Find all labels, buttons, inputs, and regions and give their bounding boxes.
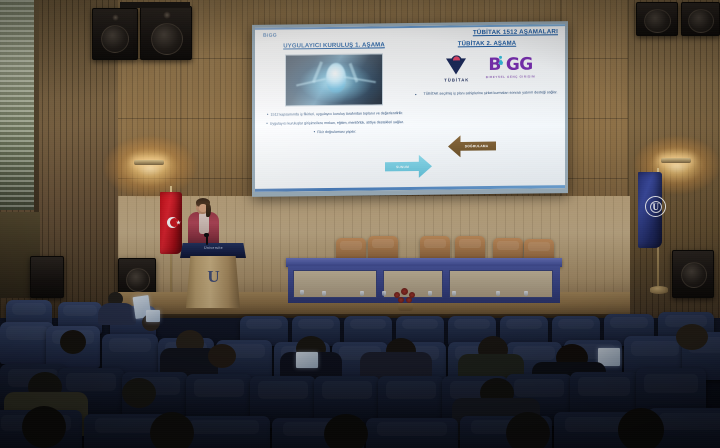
list-item: TÜBİTAK seçilmiş iş planı sahiplerine şi… <box>413 90 561 98</box>
audience-member <box>324 414 368 448</box>
left-bullet-list: 1512 kapsamında iş fikirleri, uygulayıcı… <box>261 110 407 137</box>
water-glass <box>382 291 386 296</box>
turkish-flag <box>160 192 182 254</box>
window-frame <box>34 0 39 215</box>
tubitak-mark-icon <box>446 54 467 75</box>
wall-speaker-right-a <box>636 2 678 36</box>
water-glass <box>524 291 528 296</box>
university-flag: U <box>638 172 662 248</box>
auditorium-photo: BiGG TÜBİTAK 1512 AŞAMALARI UYGULAYICI K… <box>0 0 720 448</box>
microphone-head <box>204 233 209 237</box>
verification-arrow: DOĞRULAMA <box>448 135 496 158</box>
projection-screen: BiGG TÜBİTAK 1512 AŞAMALARI UYGULAYICI K… <box>252 21 568 197</box>
presenter-hair-side <box>206 204 211 217</box>
water-glass <box>300 290 304 295</box>
water-glass <box>452 291 456 296</box>
audience-member <box>676 324 708 350</box>
audience-member <box>618 408 664 448</box>
lightbulb-photo <box>285 53 383 106</box>
water-glass <box>322 291 326 296</box>
university-flag-base <box>650 286 668 294</box>
audience-member <box>506 412 550 448</box>
audience-member <box>122 378 156 408</box>
tubitak-wordmark: TÜBİTAK <box>439 77 475 82</box>
audience-member <box>208 344 236 368</box>
bigg-logo: BiGG BIREYSEL GENÇ GIRIŞIM <box>486 56 535 78</box>
audience-member <box>60 330 86 354</box>
speaker-bracket <box>120 2 190 8</box>
submission-arrow: SUNUM <box>385 155 432 179</box>
water-glass <box>428 291 432 296</box>
slide-bottom-rule <box>255 185 565 192</box>
water-glass <box>496 291 500 296</box>
tablet-screen <box>296 352 318 368</box>
slide-header-title: TÜBİTAK 1512 AŞAMALARI <box>473 28 558 36</box>
podium-emblem: U <box>205 268 222 287</box>
logo-row: TÜBİTAK BiGG BIREYSEL GENÇ GIRIŞIM <box>413 53 561 82</box>
wall-sconce-left <box>134 160 164 165</box>
audience-seat <box>366 418 458 448</box>
audience-member <box>150 412 194 448</box>
audience-member-body <box>98 303 136 325</box>
wall-speaker-left-a <box>92 8 138 60</box>
window-blinds <box>0 0 36 210</box>
wall-sconce-left-glow <box>104 136 196 198</box>
tubitak-logo: TÜBİTAK <box>439 54 475 82</box>
list-item: 1512 kapsamında iş fikirleri, uygulayıcı… <box>263 110 407 119</box>
tablet-screen <box>146 310 160 322</box>
bigg-person-icon <box>498 56 503 65</box>
microphone-stem <box>206 236 208 245</box>
wall-speaker-right-b <box>681 2 720 36</box>
water-glass <box>360 291 364 296</box>
slide-left-column: UYGULAYICI KURULUŞ 1. AŞAMA 1512 kapsamı… <box>261 42 407 139</box>
floral-arrangement <box>392 288 418 310</box>
submission-arrow-label: SUNUM <box>396 165 409 169</box>
crescent-star-icon <box>167 217 180 230</box>
side-cabinet-left <box>30 256 64 298</box>
floor-speaker-right <box>672 250 714 298</box>
left-column-heading: UYGULAYICI KURULUŞ 1. AŞAMA <box>261 42 407 50</box>
list-item: Fikir doğrulaması yapılır. <box>263 128 407 137</box>
right-column-heading: TÜBİTAK 2. AŞAMA <box>413 40 561 48</box>
university-emblem-letter: U <box>650 201 662 213</box>
audience-member <box>22 406 66 448</box>
wall-speaker-left-b <box>140 6 192 60</box>
list-item: Uygulayıcı kuruluşlar girişimcilere meka… <box>263 119 407 128</box>
presentation-slide: BiGG TÜBİTAK 1512 AŞAMALARI UYGULAYICI K… <box>255 24 565 192</box>
podium-nameplate-text: Üniversite <box>186 246 241 250</box>
slide-watermark: BiGG <box>263 33 277 39</box>
wall-sconce-right <box>661 158 691 163</box>
verification-arrow-label: DOĞRULAMA <box>465 144 489 148</box>
slide-right-column: TÜBİTAK 2. AŞAMA TÜBİTAK BiGG <box>413 40 561 97</box>
bigg-wordmark: BiGG <box>486 56 535 74</box>
panel-table-front <box>288 266 560 303</box>
